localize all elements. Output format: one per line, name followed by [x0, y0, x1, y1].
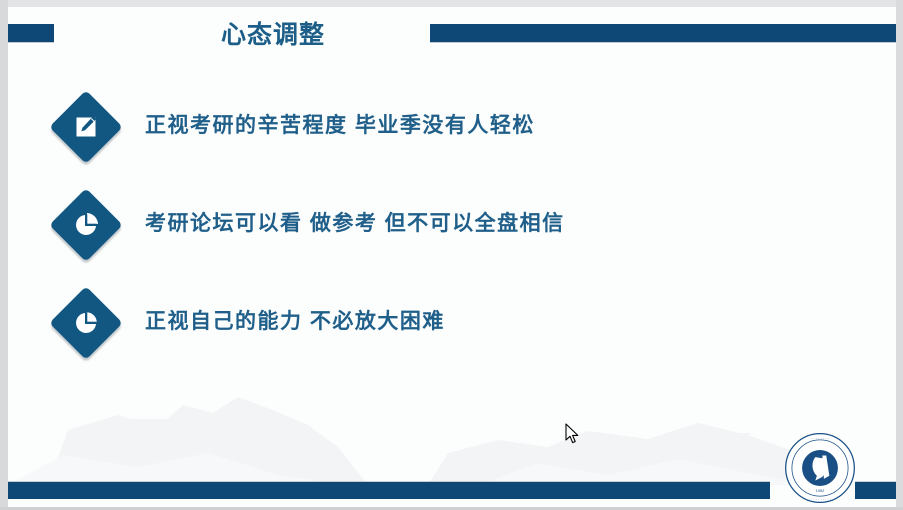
diamond-badge — [49, 286, 123, 360]
window-frame-top — [0, 0, 903, 7]
footer-accent-bar-long — [8, 482, 770, 499]
title-accent-bar-left — [8, 24, 54, 42]
title-accent-bar-right — [430, 24, 896, 42]
bullet-item: 正视考研的辛苦程度 毕业季没有人轻松 — [8, 95, 896, 193]
window-frame-left — [0, 0, 8, 510]
bullet-item: 正视自己的能力 不必放大困难 — [8, 291, 896, 389]
slide-title: 心态调整 — [128, 15, 418, 51]
presentation-slide: 心态调整 正视考研的辛苦程度 毕业季没有人轻松 — [8, 7, 896, 507]
bullet-text: 正视考研的辛苦程度 毕业季没有人轻松 — [145, 109, 535, 139]
bullet-text: 考研论坛可以看 做参考 但不可以全盘相信 — [145, 207, 565, 237]
window-frame-right — [896, 0, 903, 510]
bullet-text: 正视自己的能力 不必放大困难 — [145, 305, 445, 335]
diamond-badge — [49, 188, 123, 262]
footer-accent-bar-short — [855, 482, 896, 499]
svg-text:· · · · · · · · · ·: · · · · · · · · · · — [809, 497, 832, 502]
emblem-year: 1952 — [816, 488, 825, 493]
bullet-item: 考研论坛可以看 做参考 但不可以全盘相信 — [8, 193, 896, 291]
diamond-badge — [49, 90, 123, 164]
screen: 心态调整 正视考研的辛苦程度 毕业季没有人轻松 — [0, 0, 903, 510]
svg-text:· · · · · · · ·: · · · · · · · · — [811, 436, 829, 441]
university-emblem: · · · · · · · · · · · · · · · · · · 1952 — [781, 429, 859, 507]
bullet-list: 正视考研的辛苦程度 毕业季没有人轻松 考研论坛可以看 做参考 但不可以全盘相信 — [8, 95, 896, 389]
